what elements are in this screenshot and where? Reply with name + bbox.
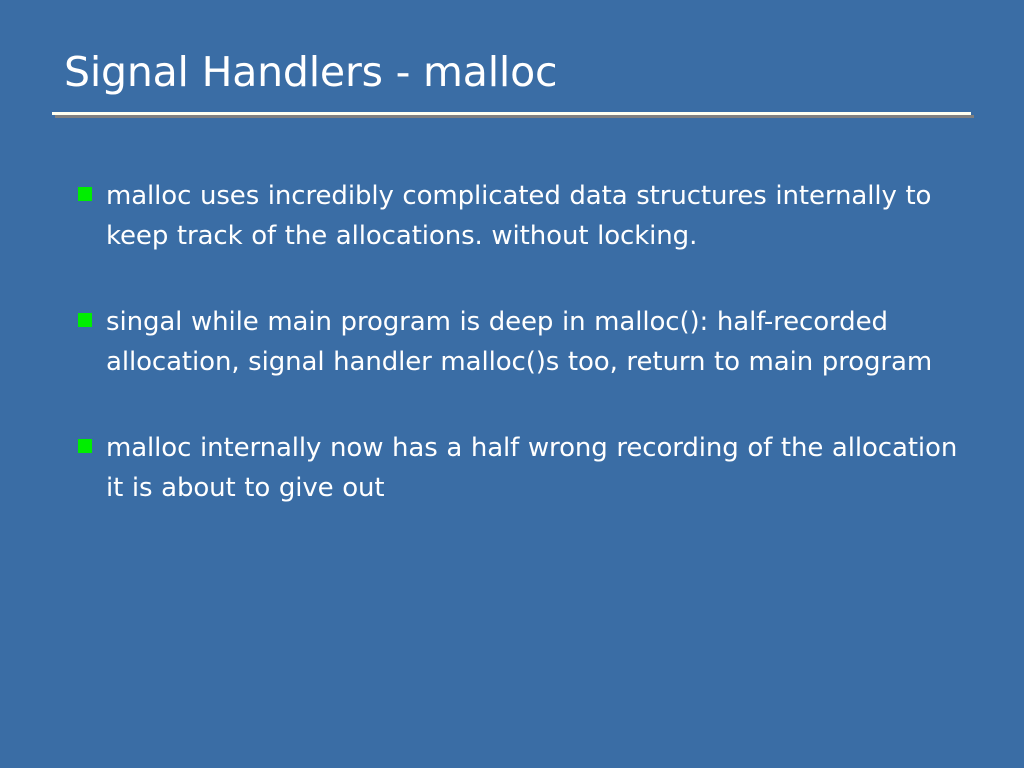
square-bullet-icon: [78, 187, 92, 201]
list-item-text: singal while main program is deep in mal…: [106, 302, 958, 382]
list-item-text: malloc uses incredibly complicated data …: [106, 176, 958, 256]
presentation-slide: Signal Handlers - malloc malloc uses inc…: [0, 0, 1024, 768]
page-title: Signal Handlers - malloc: [64, 44, 557, 100]
slide-body: malloc uses incredibly complicated data …: [78, 176, 958, 508]
square-bullet-icon: [78, 439, 92, 453]
slide-title-block: Signal Handlers - malloc: [52, 44, 972, 124]
square-bullet-icon: [78, 313, 92, 327]
list-item-text: malloc internally now has a half wrong r…: [106, 428, 958, 508]
list-item: malloc internally now has a half wrong r…: [78, 428, 958, 508]
list-item: malloc uses incredibly complicated data …: [78, 176, 958, 256]
title-divider-rule-shadow: [55, 115, 974, 118]
list-item: singal while main program is deep in mal…: [78, 302, 958, 382]
